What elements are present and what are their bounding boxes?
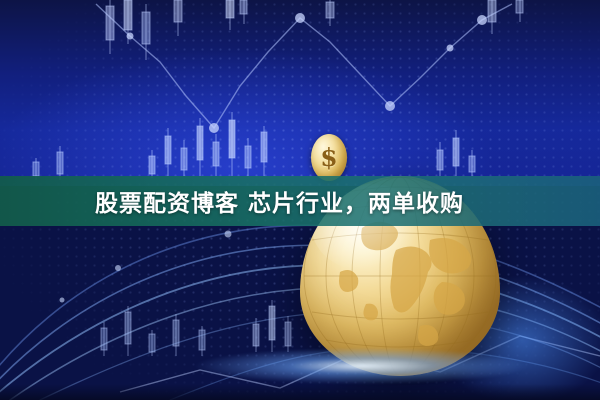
- dollar-coin-icon: $: [311, 134, 347, 181]
- banner-image: $ 股票配资博客 芯片行业，两单收购: [0, 0, 600, 400]
- bottom-vignette: [0, 384, 600, 400]
- dollar-sign-glyph: $: [320, 145, 337, 170]
- banner-title-text: 股票配资博客 芯片行业，两单收购: [95, 184, 464, 218]
- title-banner: 股票配资博客 芯片行业，两单收购: [0, 176, 600, 226]
